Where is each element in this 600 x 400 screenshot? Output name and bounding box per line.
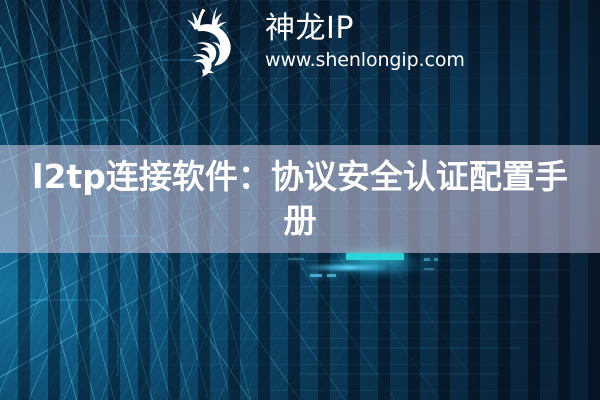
hud-chip-e: [424, 268, 434, 270]
hud-chip-c: [424, 258, 430, 261]
banner-canvas: 神龙IP www.shenlongip.com l2tp连接软件：协议安全认证配…: [0, 0, 600, 400]
hud-cyan-bar: [346, 253, 404, 260]
hud-chip-a: [310, 274, 322, 277]
brand-logo[interactable]: 神龙IP www.shenlongip.com: [178, 4, 465, 82]
hud-chip-f: [288, 258, 304, 260]
hud-chip-d: [434, 258, 438, 261]
brand-text-block: 神龙IP www.shenlongip.com: [265, 13, 465, 72]
page-title: l2tp连接软件：协议安全认证配置手册: [20, 155, 580, 243]
brand-url: www.shenlongip.com: [265, 48, 465, 73]
dragon-head-logo-icon: [178, 4, 258, 82]
title-overlay-band: l2tp连接软件：协议安全认证配置手册: [0, 145, 600, 253]
brand-name: 神龙IP: [265, 13, 465, 45]
hud-light-streak: [300, 265, 390, 270]
hud-chip-b: [327, 274, 336, 277]
